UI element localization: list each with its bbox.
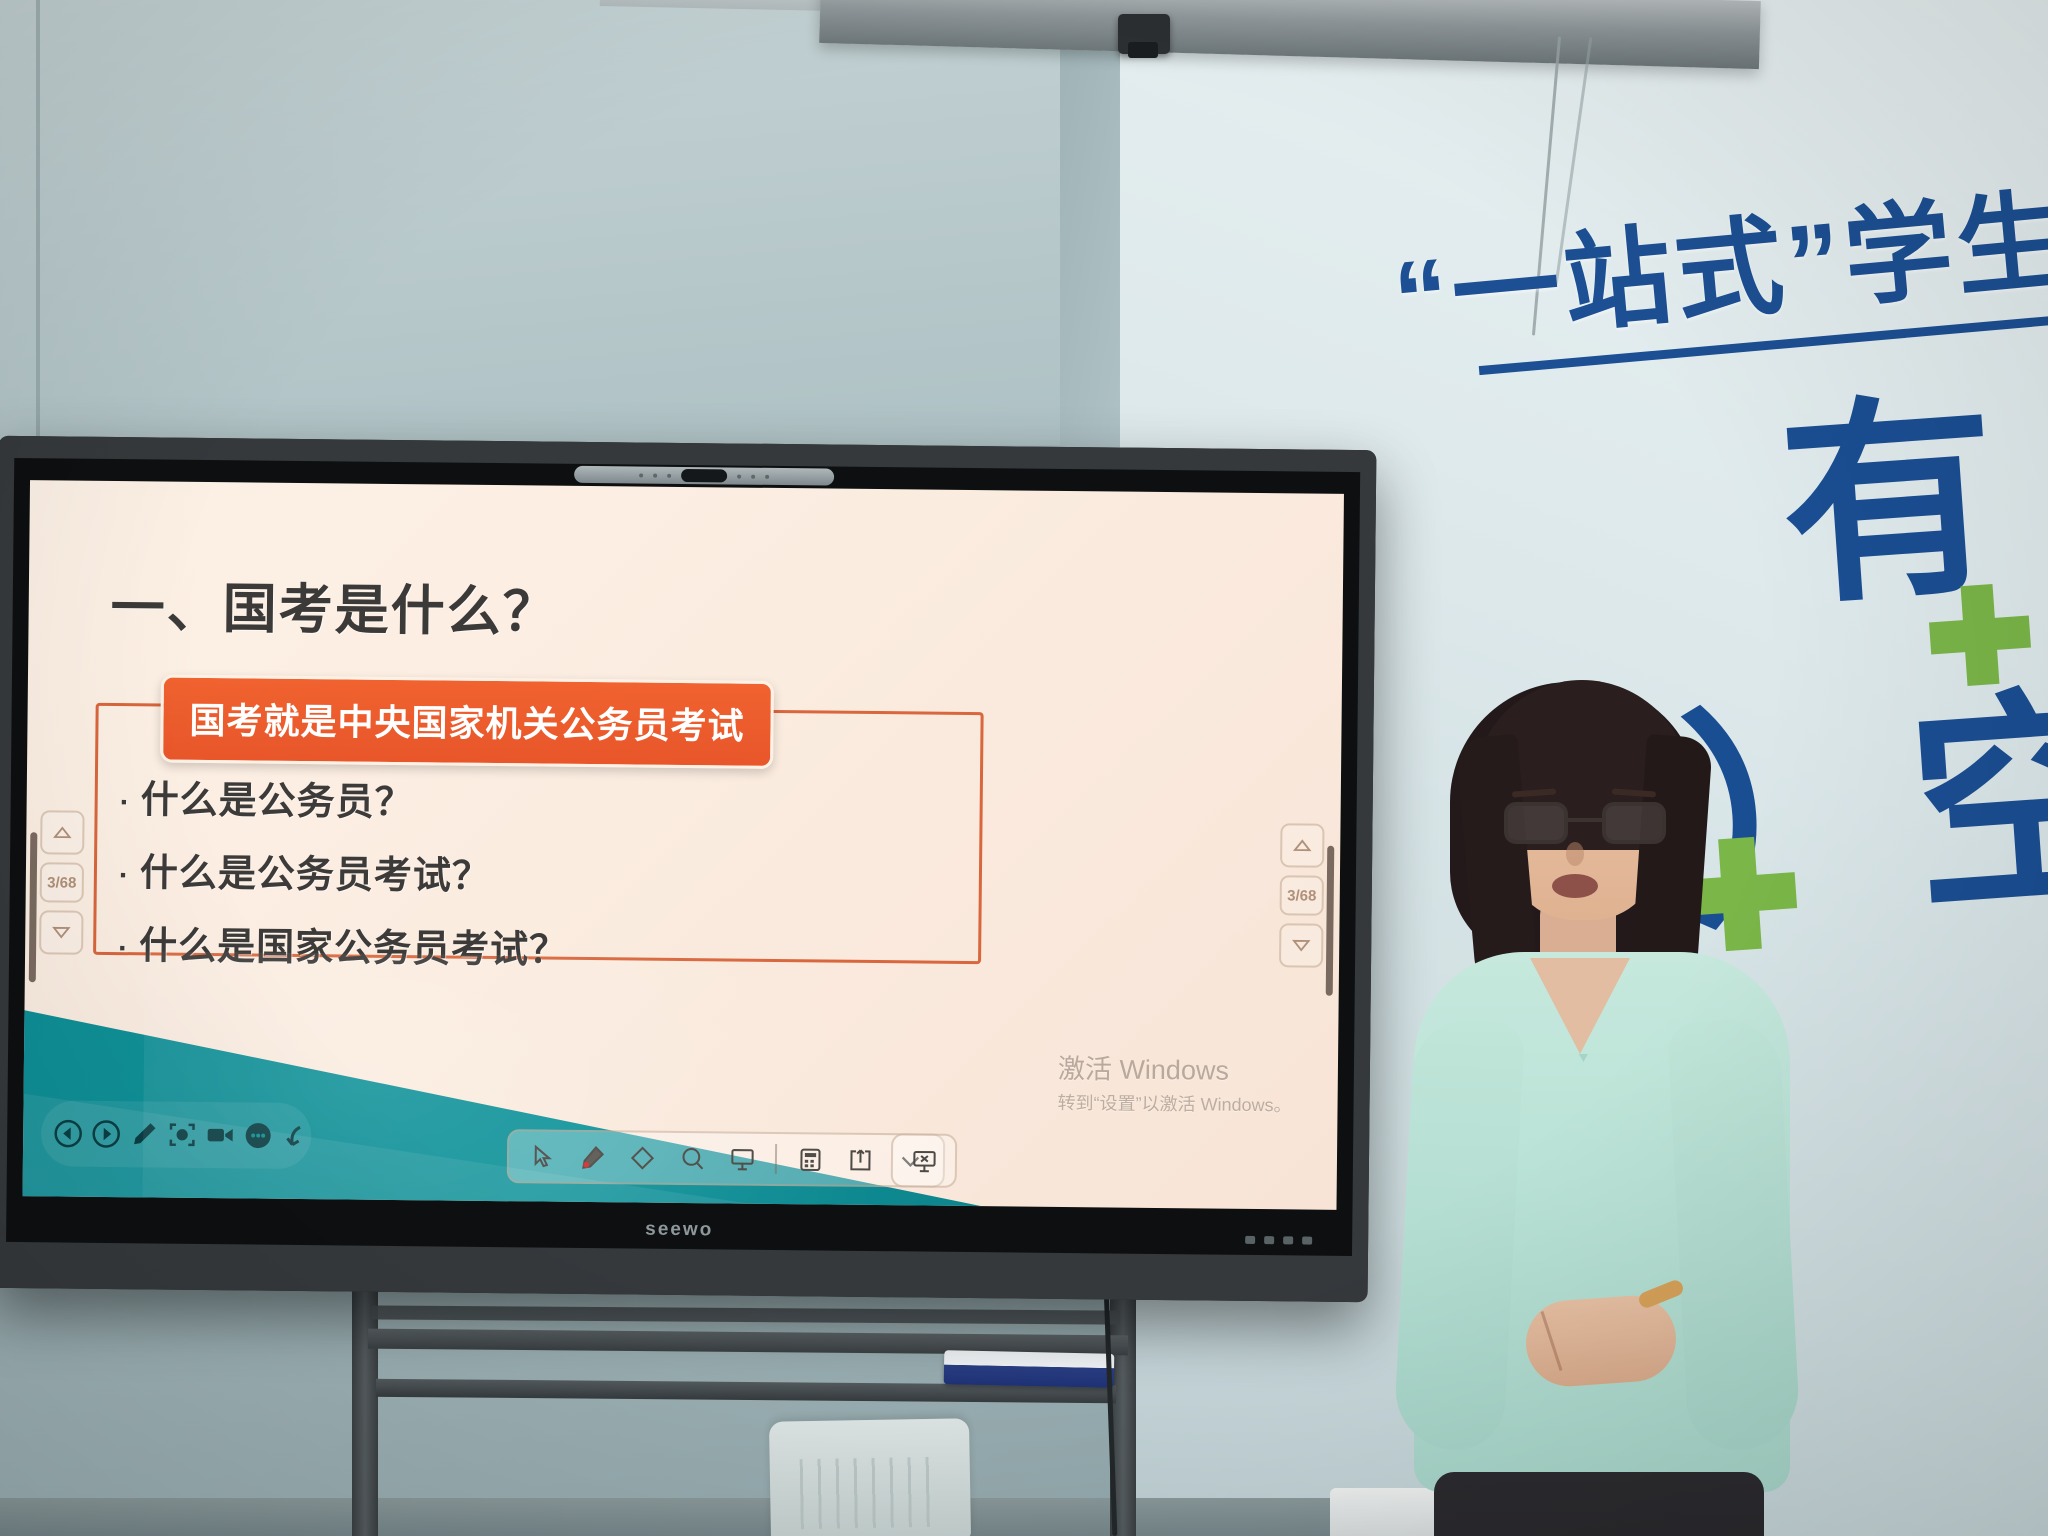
back-arrow-icon[interactable]	[281, 1119, 311, 1153]
sidenav-right: 3/68	[1279, 823, 1325, 967]
watermark-line-1: 激活 Windows	[1058, 1047, 1292, 1088]
spotlight-icon[interactable]	[719, 1137, 765, 1179]
camera-bar-icon	[574, 466, 834, 486]
list-item: · 什么是国家公务员考试？	[118, 914, 569, 974]
page-indicator-left: 3/68	[40, 862, 84, 902]
prev-slide-button[interactable]	[40, 810, 84, 854]
watermark-line-2: 转到“设置”以激活 Windows。	[1057, 1089, 1291, 1117]
next-button-icon[interactable]	[91, 1117, 121, 1151]
magnifier-icon[interactable]	[669, 1137, 715, 1179]
port-indicators	[1245, 1236, 1312, 1245]
bullet-list: · 什么是公务员？ · 什么是公务员考试？ · 什么是国家公务员考试？	[118, 768, 570, 974]
bullet-text: 什么是公务员考试？	[140, 841, 492, 900]
presenter-arm-left	[1393, 1017, 1525, 1452]
more-icon[interactable]	[243, 1118, 273, 1152]
presenter-arm-right	[1667, 1017, 1801, 1452]
bullet-marker: ·	[120, 788, 131, 818]
floor	[0, 1498, 1420, 1536]
banner-text: 国考就是中央国家机关公务员考试	[189, 692, 745, 750]
status-badge: 国考就是中央国家机关公务员考试	[160, 675, 774, 769]
scrollbar-left[interactable]	[29, 832, 38, 982]
bullet-marker: ·	[119, 861, 130, 891]
slide-canvas[interactable]: 一、国考是什么？ 国考就是中央国家机关公务员考试 · 什么是公务员？ · 什么是…	[23, 480, 1344, 1210]
teal-control-strip	[41, 1100, 312, 1169]
chair-slats	[800, 1457, 941, 1529]
ceiling-camera-mount	[1118, 14, 1170, 54]
presenter-mouth	[1552, 874, 1598, 898]
bullet-text: 什么是国家公务员考试？	[139, 914, 569, 973]
calculator-icon[interactable]	[787, 1138, 833, 1180]
wall-upper-left	[0, 0, 1070, 445]
capture-icon[interactable]	[167, 1118, 197, 1152]
windows-activation-watermark: 激活 Windows 转到“设置”以激活 Windows。	[1057, 1047, 1292, 1117]
list-item: · 什么是公务员考试？	[119, 841, 570, 901]
list-item: · 什么是公务员？	[119, 768, 570, 828]
chair	[769, 1418, 971, 1536]
sidenav-left: 3/68	[39, 810, 85, 954]
next-slide-button-right[interactable]	[1279, 923, 1323, 967]
annotation-toolbar	[507, 1129, 946, 1188]
prev-slide-button-right[interactable]	[1280, 823, 1324, 867]
scrollbar-right[interactable]	[1326, 846, 1335, 996]
display-brand-label: seewo	[6, 1212, 1352, 1248]
presenter-hands	[1523, 1293, 1679, 1389]
glasses-icon	[1504, 802, 1666, 844]
presenter-pants	[1434, 1472, 1764, 1536]
bullet-text: 什么是公务员？	[140, 768, 414, 826]
presenter	[1400, 690, 1800, 1536]
share-icon[interactable]	[837, 1139, 883, 1181]
plus-icon-upper	[1927, 582, 2034, 689]
page-indicator-right: 3/68	[1280, 875, 1324, 915]
bullet-marker: ·	[118, 934, 129, 964]
presentation-toolbar	[891, 1133, 958, 1188]
page-title: 一、国考是什么？	[110, 563, 559, 647]
marker-pen-box	[944, 1350, 1115, 1388]
slide-content-box: 国考就是中央国家机关公务员考试 · 什么是公务员？ · 什么是公务员考试？ ·	[93, 703, 984, 964]
pen-icon[interactable]	[569, 1136, 615, 1178]
next-slide-button[interactable]	[39, 910, 83, 954]
wall-big-char-1: 有	[1775, 388, 2004, 617]
wall-seam	[36, 0, 40, 448]
stand-column-left	[352, 1290, 378, 1536]
exit-presentation-icon[interactable]	[901, 1139, 947, 1181]
record-icon[interactable]	[205, 1118, 235, 1152]
presentation-room-scene: “一站式”学生社 有 （ ）空间 一、国考是什么？	[0, 0, 2048, 1536]
toolbar-divider	[775, 1144, 777, 1174]
panel-bezel: 一、国考是什么？ 国考就是中央国家机关公务员考试 · 什么是公务员？ · 什么是…	[0, 436, 1376, 1302]
pen-icon[interactable]	[129, 1117, 159, 1151]
eraser-icon[interactable]	[619, 1136, 665, 1178]
prev-button-icon[interactable]	[53, 1116, 83, 1150]
webcam-icon	[681, 469, 727, 482]
cursor-icon[interactable]	[519, 1135, 565, 1177]
interactive-whiteboard-panel: 一、国考是什么？ 国考就是中央国家机关公务员考试 · 什么是公务员？ · 什么是…	[0, 436, 1376, 1302]
presenter-nose	[1566, 842, 1584, 866]
